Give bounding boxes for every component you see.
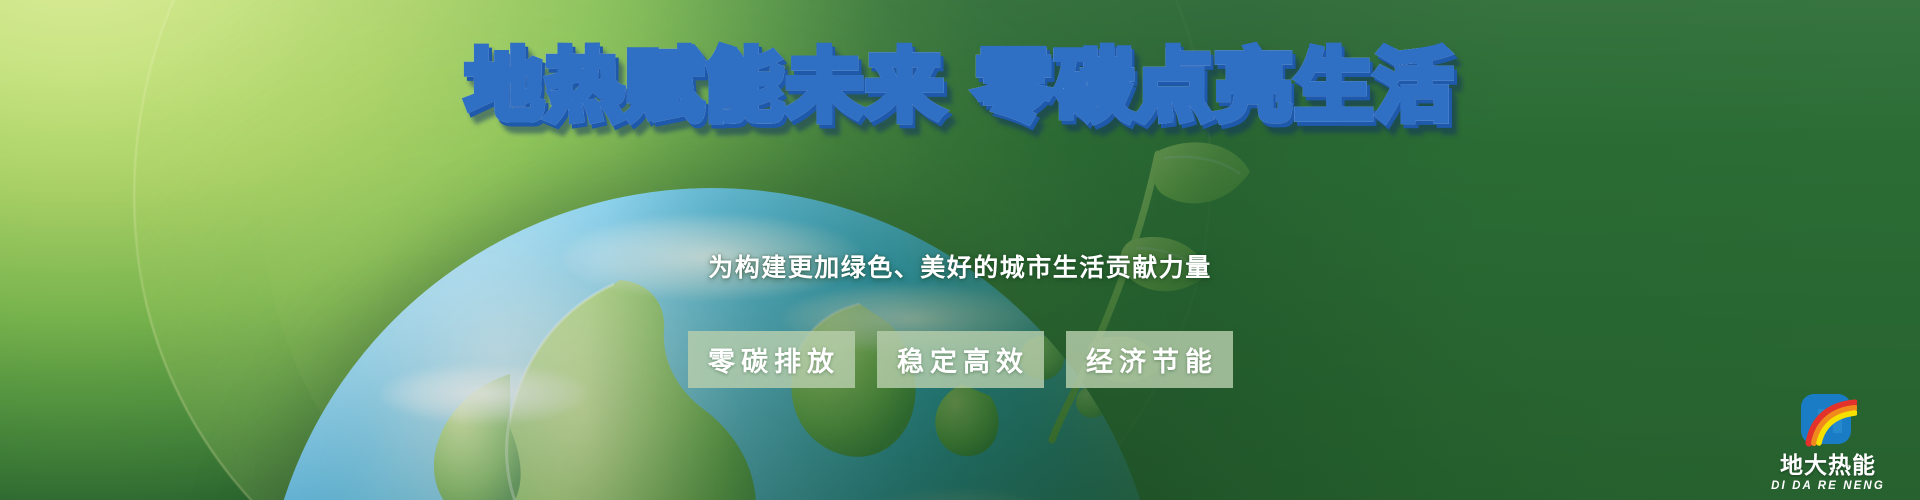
sprout-leaf-icon — [1040, 128, 1260, 448]
badge-zero-carbon[interactable]: 零碳排放 — [688, 331, 855, 388]
company-logo[interactable]: 地大热能 DI DA RE NENG — [1764, 393, 1892, 492]
logo-name-cn: 地大热能 — [1780, 454, 1876, 478]
hero-banner: 地热赋能未来 零碳点亮生活 为构建更加绿色、美好的城市生活贡献力量 零碳排放 稳… — [0, 0, 1920, 500]
badge-economical-energy-saving[interactable]: 经济节能 — [1066, 331, 1233, 388]
feature-badge-list: 零碳排放 稳定高效 经济节能 — [0, 331, 1920, 388]
logo-name-en: DI DA RE NENG — [1771, 480, 1885, 492]
page-title: 地热赋能未来 零碳点亮生活 — [465, 48, 1454, 126]
subtitle: 为构建更加绿色、美好的城市生活贡献力量 — [0, 248, 1920, 284]
rainbow-arc-square-logo-icon — [1799, 393, 1857, 449]
badge-stable-efficient[interactable]: 稳定高效 — [877, 331, 1044, 388]
headline-container: 地热赋能未来 零碳点亮生活 — [0, 48, 1920, 126]
